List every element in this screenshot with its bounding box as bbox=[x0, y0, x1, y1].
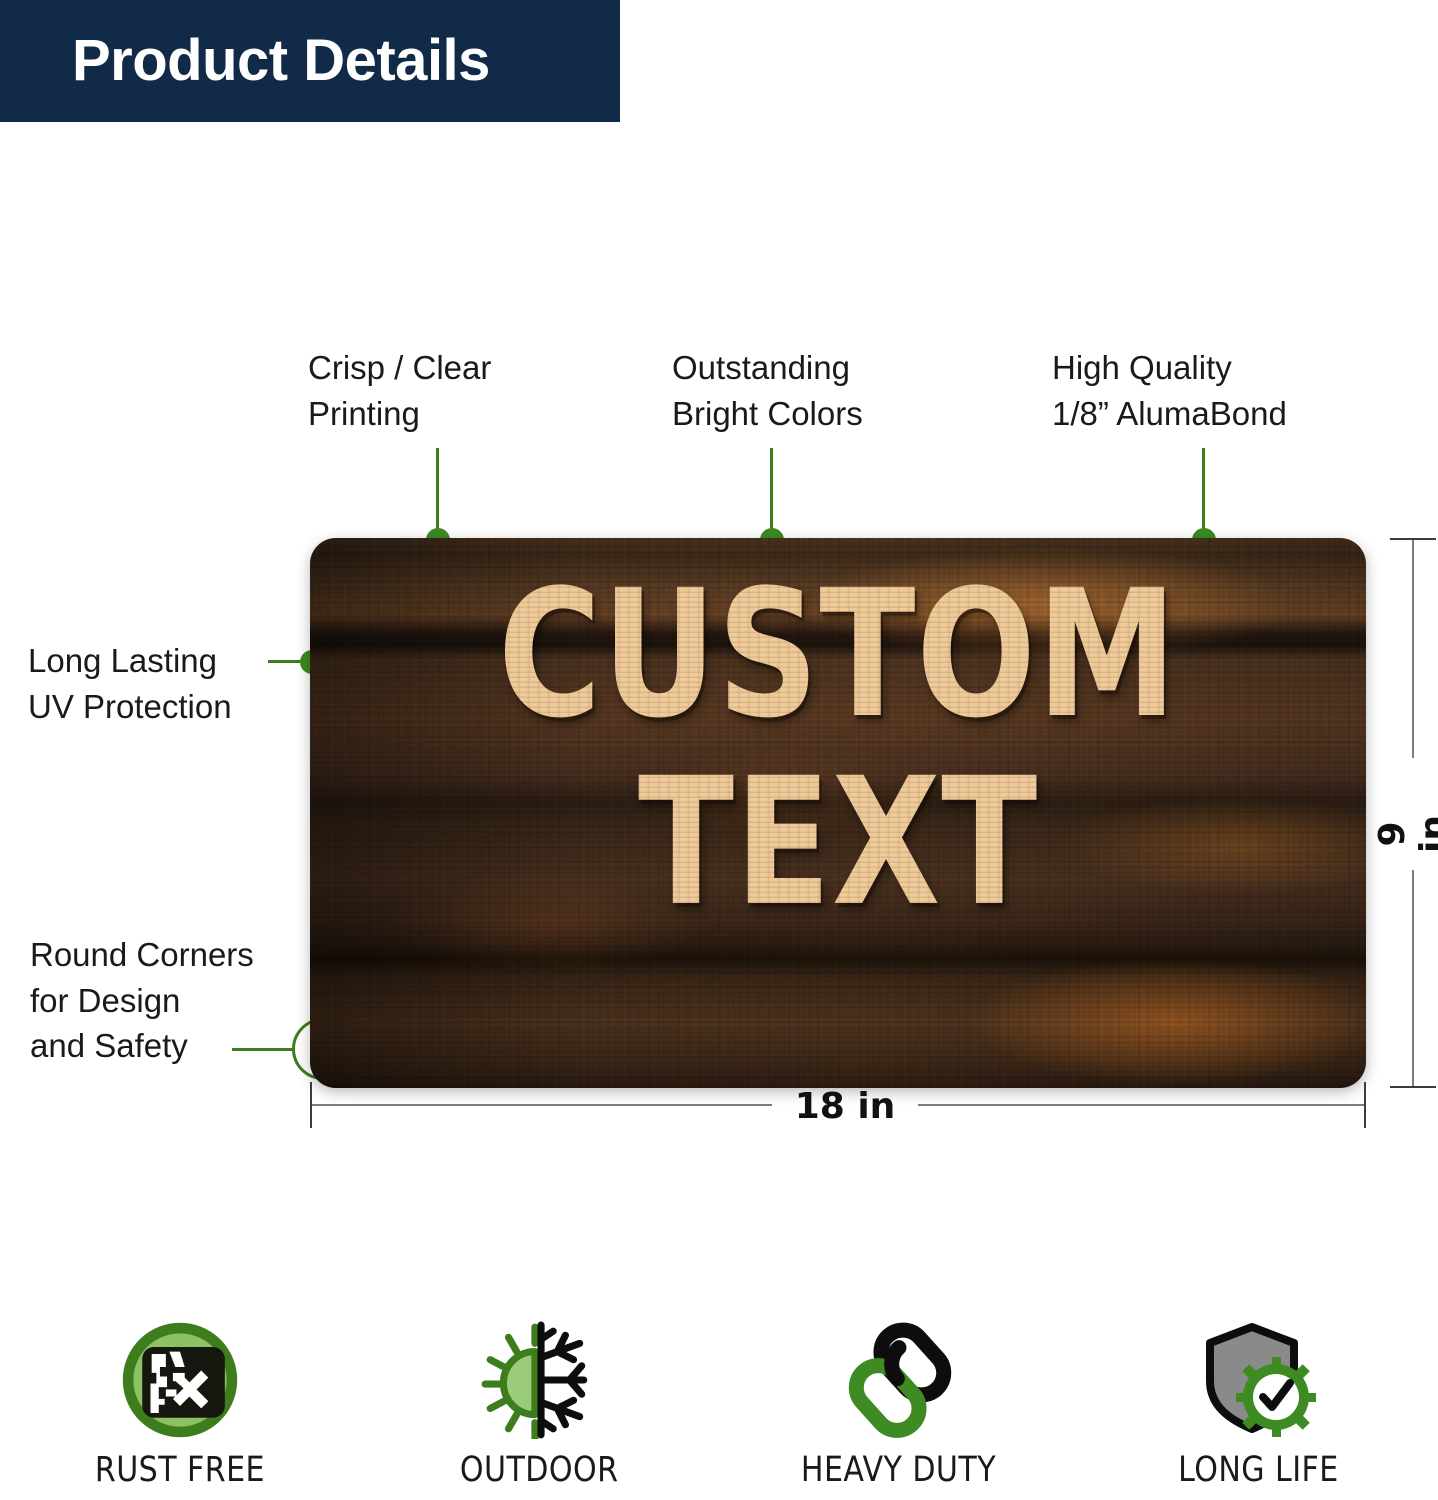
dimension-cap-width-right bbox=[1364, 1082, 1366, 1128]
header-banner: Product Details bbox=[0, 0, 620, 122]
callout-label-crisp-clear-printing: Crisp / Clear Printing bbox=[308, 345, 491, 436]
sign-text-line-1: CUSTOM bbox=[498, 568, 1178, 742]
dimension-label-height: 9 in bbox=[1372, 806, 1438, 862]
leader-line-bright-colors bbox=[770, 448, 773, 540]
dimension-cap-height-bottom bbox=[1390, 1086, 1436, 1088]
sign-text-line-2: TEXT bbox=[638, 756, 1038, 930]
callout-label-long-lasting-uv-protection: Long Lasting UV Protection bbox=[28, 638, 232, 729]
feature-long-life: LONG LIFE bbox=[1108, 1320, 1408, 1490]
feature-outdoor: OUTDOOR bbox=[389, 1320, 689, 1490]
dimension-line-width-right bbox=[918, 1104, 1364, 1106]
product-sign-preview: CUSTOM TEXT bbox=[310, 538, 1366, 1088]
chain-link-icon bbox=[839, 1320, 959, 1440]
dimension-line-width-left bbox=[312, 1104, 772, 1106]
feature-label-heavy-duty: HEAVY DUTY bbox=[801, 1450, 996, 1490]
sign-custom-text: CUSTOM TEXT bbox=[310, 538, 1366, 1088]
leader-line-round-corners bbox=[232, 1048, 294, 1051]
callout-label-high-quality-alumabond: High Quality 1/8” AlumaBond bbox=[1052, 345, 1287, 436]
page-title: Product Details bbox=[0, 32, 490, 90]
sun-snowflake-icon bbox=[478, 1320, 600, 1440]
rust-free-icon bbox=[121, 1320, 239, 1440]
feature-label-outdoor: OUTDOOR bbox=[460, 1450, 619, 1490]
dimension-line-height-lower bbox=[1412, 870, 1414, 1086]
callout-label-round-corners: Round Corners for Design and Safety bbox=[30, 932, 254, 1069]
dimension-label-width: 18 in bbox=[790, 1086, 900, 1127]
feature-label-rust-free: RUST FREE bbox=[95, 1450, 265, 1490]
dimension-line-height-upper bbox=[1412, 540, 1414, 758]
product-details-infographic: Product Details Crisp / Clear Printing O… bbox=[0, 0, 1438, 1500]
leader-line-crisp-printing bbox=[436, 448, 439, 540]
feature-rust-free: RUST FREE bbox=[30, 1320, 330, 1490]
leader-line-alumabond bbox=[1202, 448, 1205, 540]
feature-badges: RUST FREE bbox=[0, 1320, 1438, 1500]
feature-label-long-life: LONG LIFE bbox=[1178, 1450, 1339, 1490]
callout-label-outstanding-bright-colors: Outstanding Bright Colors bbox=[672, 345, 863, 436]
shield-clock-icon bbox=[1198, 1320, 1318, 1440]
feature-heavy-duty: HEAVY DUTY bbox=[749, 1320, 1049, 1490]
